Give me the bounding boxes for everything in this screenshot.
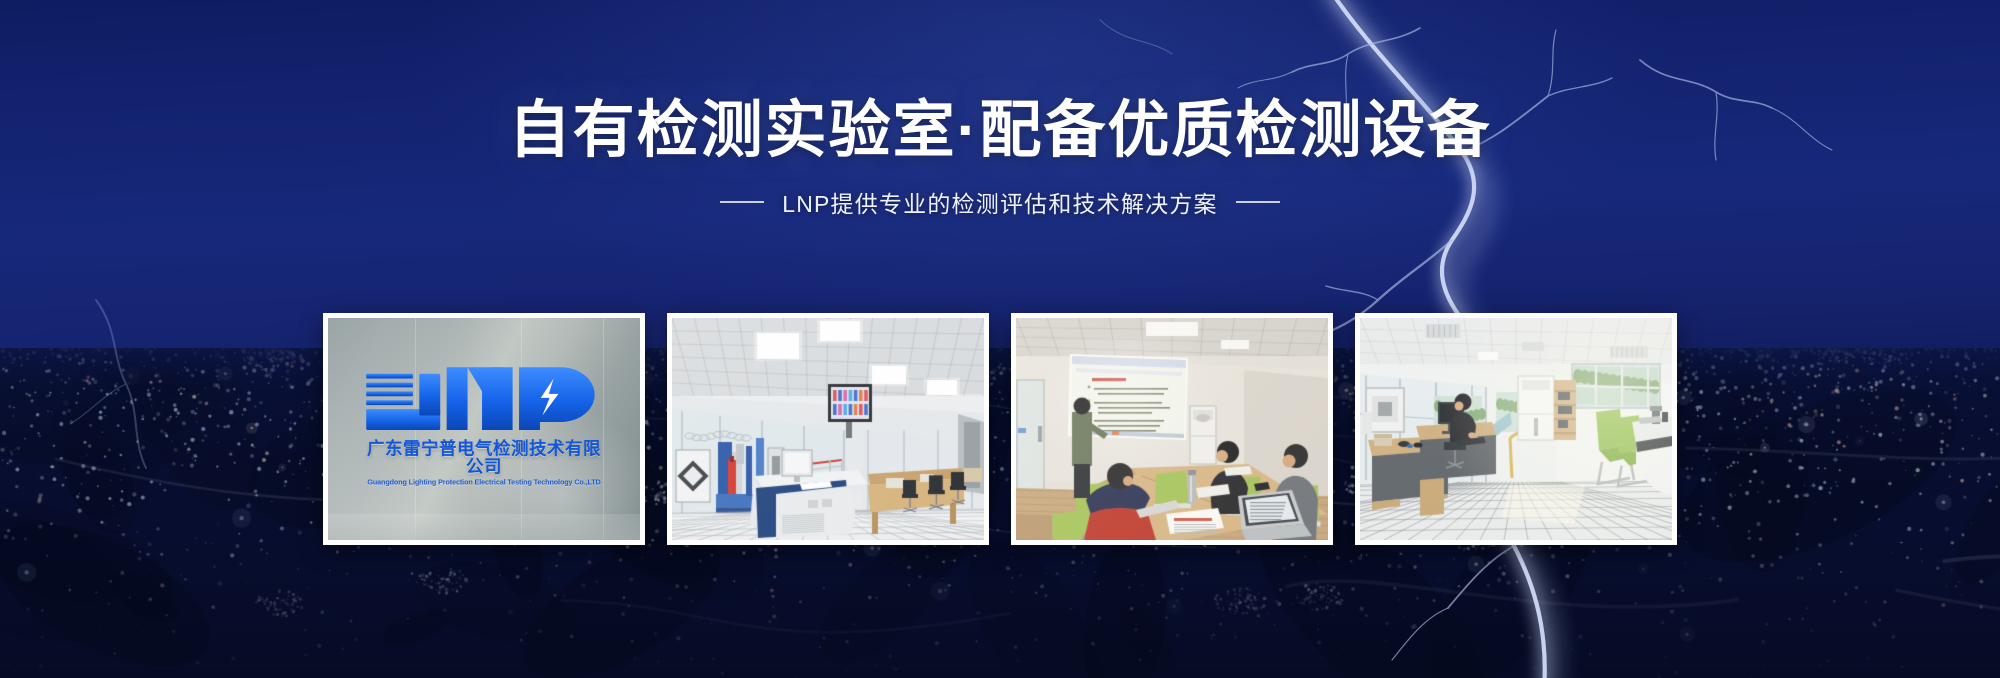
hero-text-block: 自有检测实验室·配备优质检测设备 LNP提供专业的检测评估和技术解决方案 — [0, 96, 2000, 219]
subtitle-row: LNP提供专业的检测评估和技术解决方案 — [0, 185, 2000, 219]
page-subtitle: LNP提供专业的检测评估和技术解决方案 — [782, 185, 1218, 219]
gallery-item-logo-wall[interactable]: 广东雷宁普电气检测技术有限公司 Guangdong Lighting Prote… — [323, 313, 645, 545]
gallery-item-meeting-room[interactable] — [1011, 313, 1333, 545]
company-logo-sign: 广东雷宁普电气检测技术有限公司 Guangdong Lighting Prote… — [360, 362, 608, 485]
page-title: 自有检测实验室·配备优质检测设备 — [0, 96, 2000, 165]
company-name-en: Guangdong Lighting Protection Electrical… — [360, 478, 608, 485]
rule-right-decoration — [1236, 201, 1280, 203]
gallery-item-testing-lab[interactable] — [667, 313, 989, 545]
gallery-strip: 广东雷宁普电气检测技术有限公司 Guangdong Lighting Prote… — [323, 313, 1677, 545]
lnp-logo-icon — [363, 362, 604, 436]
company-name-cn: 广东雷宁普电气检测技术有限公司 — [360, 440, 608, 475]
gallery-item-office[interactable] — [1355, 313, 1677, 545]
hero-banner: 自有检测实验室·配备优质检测设备 LNP提供专业的检测评估和技术解决方案 — [0, 0, 2000, 678]
rule-left-decoration — [720, 201, 764, 203]
